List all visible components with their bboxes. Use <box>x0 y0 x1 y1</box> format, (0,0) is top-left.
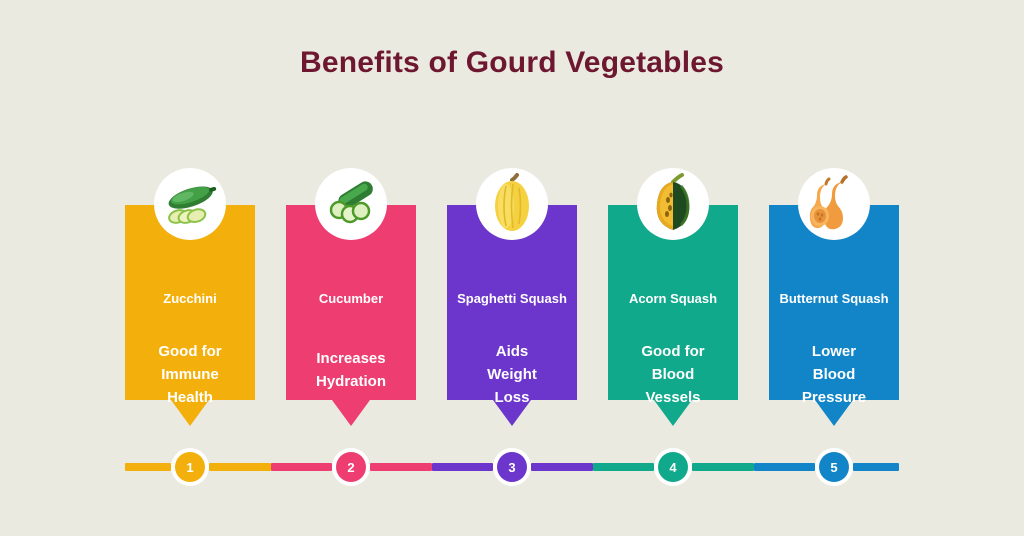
benefit-card[interactable]: CucumberIncreasesHydration <box>286 205 416 400</box>
benefit-card[interactable]: Acorn SquashGood forBloodVessels <box>608 205 738 400</box>
card-benefit-line: Pressure <box>769 386 899 409</box>
butternut-squash-icon <box>798 168 870 240</box>
timeline-segment <box>271 463 333 471</box>
card-benefit-text: AidsWeightLoss <box>447 340 577 409</box>
card-benefit-line: Vessels <box>608 386 738 409</box>
timeline-segment-end <box>853 463 899 471</box>
timeline-segment <box>754 463 816 471</box>
card-benefit-line: Increases <box>286 347 416 370</box>
card-benefit-text: Good forBloodVessels <box>608 340 738 409</box>
card-benefit-line: Hydration <box>286 370 416 393</box>
card-image-circle <box>798 168 870 240</box>
timeline-step[interactable]: 5 <box>815 448 853 486</box>
card-benefit-line: Health <box>125 386 255 409</box>
card-vegetable-name: Acorn Squash <box>600 291 746 306</box>
card-benefit-line: Loss <box>447 386 577 409</box>
card-vegetable-name: Butternut Squash <box>761 291 907 306</box>
card-benefit-text: IncreasesHydration <box>286 347 416 393</box>
timeline: 12345 <box>125 448 899 486</box>
timeline-step[interactable]: 3 <box>493 448 531 486</box>
card-benefit-text: LowerBloodPressure <box>769 340 899 409</box>
timeline-segment <box>209 463 271 471</box>
card-image-circle <box>315 168 387 240</box>
acorn-squash-icon <box>637 168 709 240</box>
card-benefit-line: Aids <box>447 340 577 363</box>
card-benefit-line: Lower <box>769 340 899 363</box>
card-vegetable-name: Cucumber <box>278 291 424 306</box>
card-benefit-line: Blood <box>769 363 899 386</box>
benefit-card[interactable]: Butternut SquashLowerBloodPressure <box>769 205 899 400</box>
timeline-segment <box>370 463 432 471</box>
timeline-segment <box>593 463 655 471</box>
infographic-root: Benefits of Gourd Vegetables ZucchiniGoo… <box>0 0 1024 536</box>
card-vegetable-name: Spaghetti Squash <box>439 291 585 306</box>
timeline-step[interactable]: 2 <box>332 448 370 486</box>
card-image-circle <box>476 168 548 240</box>
timeline-step-number: 3 <box>497 452 527 482</box>
card-benefit-line: Weight <box>447 363 577 386</box>
timeline-step-number: 5 <box>819 452 849 482</box>
zucchini-icon <box>154 168 226 240</box>
spaghetti-squash-icon <box>476 168 548 240</box>
cucumber-icon <box>315 168 387 240</box>
timeline-segment <box>692 463 754 471</box>
page-title: Benefits of Gourd Vegetables <box>0 46 1024 80</box>
cards-row: ZucchiniGood forImmuneHealth CucumberInc… <box>125 168 899 430</box>
benefit-card[interactable]: ZucchiniGood forImmuneHealth <box>125 205 255 400</box>
card-benefit-text: Good forImmuneHealth <box>125 340 255 409</box>
card-benefit-line: Blood <box>608 363 738 386</box>
timeline-segment-start <box>125 463 171 471</box>
card-vegetable-name: Zucchini <box>117 291 263 306</box>
card-benefit-line: Immune <box>125 363 255 386</box>
card-benefit-line: Good for <box>608 340 738 363</box>
benefit-card[interactable]: Spaghetti SquashAidsWeightLoss <box>447 205 577 400</box>
timeline-step-number: 4 <box>658 452 688 482</box>
timeline-step-number: 1 <box>175 452 205 482</box>
timeline-step[interactable]: 1 <box>171 448 209 486</box>
timeline-step-number: 2 <box>336 452 366 482</box>
card-pointer <box>332 400 370 426</box>
card-image-circle <box>154 168 226 240</box>
card-benefit-line: Good for <box>125 340 255 363</box>
timeline-segment <box>531 463 593 471</box>
timeline-segment <box>432 463 494 471</box>
timeline-step[interactable]: 4 <box>654 448 692 486</box>
card-image-circle <box>637 168 709 240</box>
